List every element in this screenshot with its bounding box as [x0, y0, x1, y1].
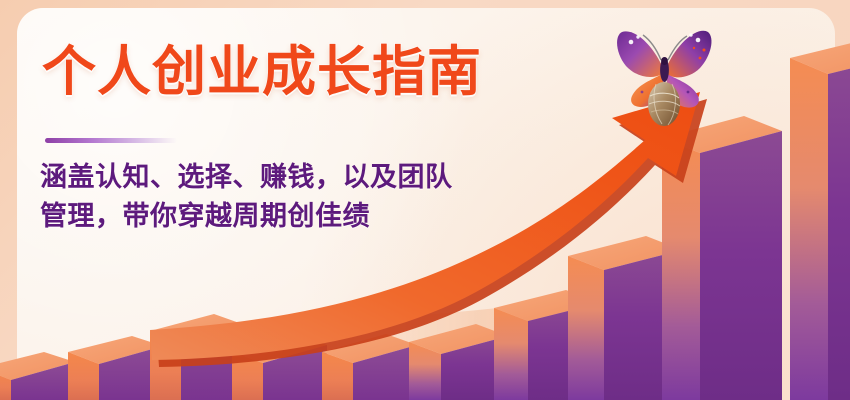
subtitle-block: 涵盖认知、选择、赚钱，以及团队 管理，带你穿越周期创佳绩 [40, 158, 453, 236]
title-divider [45, 138, 177, 143]
background-swoosh-icon [17, 258, 707, 388]
subtitle-line-2: 管理，带你穿越周期创佳绩 [40, 197, 453, 236]
promo-banner: 个人创业成长指南 涵盖认知、选择、赚钱，以及团队 管理，带你穿越周期创佳绩 [0, 0, 850, 400]
subtitle-line-1: 涵盖认知、选择、赚钱，以及团队 [40, 158, 453, 197]
page-title: 个人创业成长指南 [42, 44, 482, 101]
